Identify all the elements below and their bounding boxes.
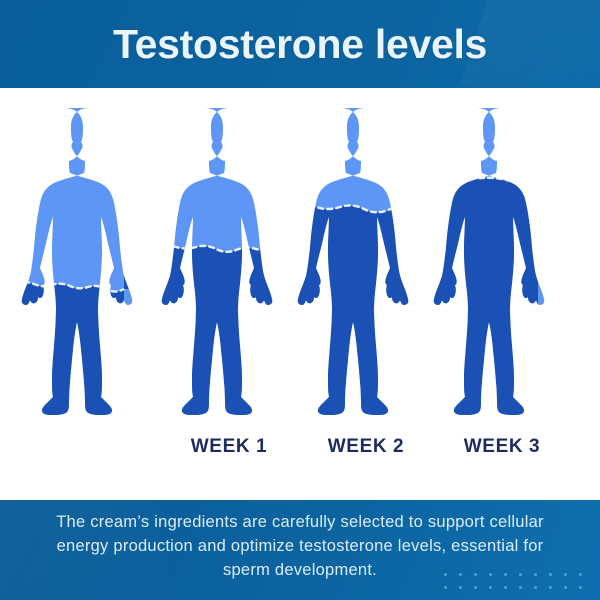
page-title: Testosterone levels [113,24,487,65]
body-figure-week-1 [166,102,292,442]
body-silhouette [22,108,133,415]
body-figure-week-2 [302,102,428,442]
week-label-group: WEEK 1 WEEK 2 WEEK 3 [0,436,600,470]
footer-description: The cream’s ingredients are carefully se… [40,511,560,583]
fill-level-week-3 [426,172,538,468]
body-figure-week-3 [438,102,564,442]
infographic-poster: Testosterone levels [0,0,600,600]
figures-stage: WEEK 1 WEEK 2 WEEK 3 [0,88,600,500]
week-label-3: WEEK 3 [427,436,577,458]
footer-band: The cream’s ingredients are carefully se… [0,500,600,600]
fill-hand-right [124,249,158,289]
body-figure-group: WEEK 1 WEEK 2 WEEK 3 [0,88,600,500]
header-band: Testosterone levels [0,0,600,88]
body-figure-baseline [26,102,152,442]
week-label-2: WEEK 2 [291,436,441,458]
week-label-1: WEEK 1 [154,436,304,458]
